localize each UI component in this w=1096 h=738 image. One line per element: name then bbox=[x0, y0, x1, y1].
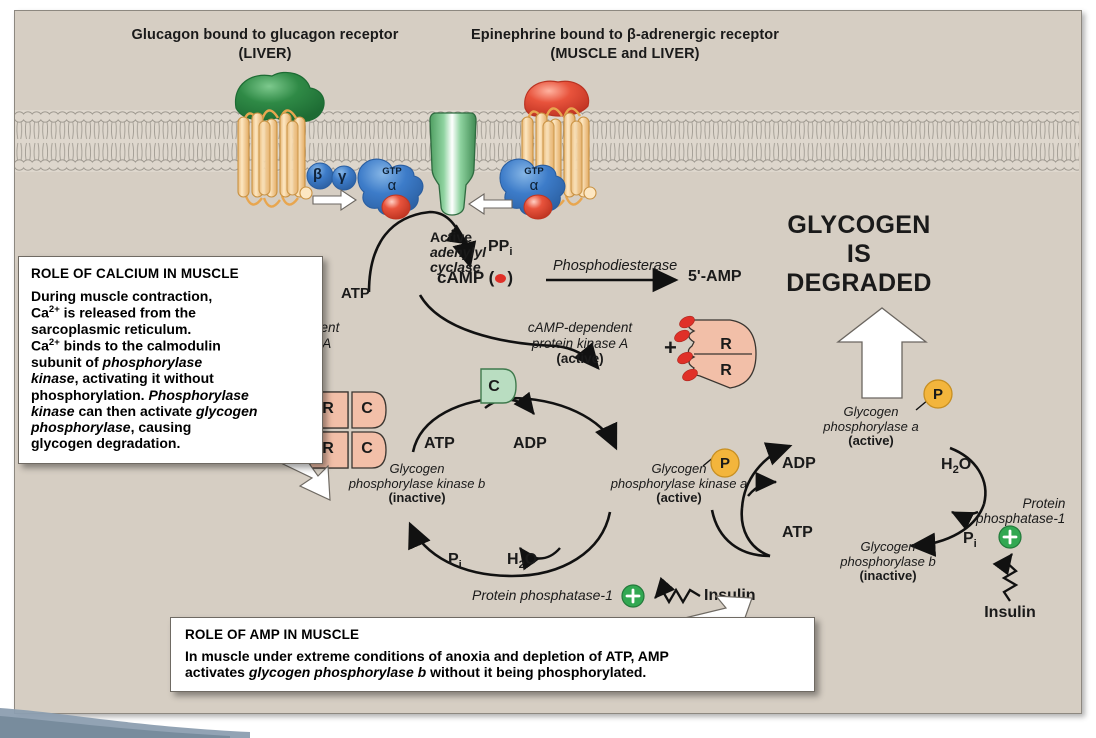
header-epinephrine-line2: (MUSCLE and LIVER) bbox=[550, 46, 699, 62]
g-gtp-label-left: GTP bbox=[382, 166, 402, 177]
glycogen-degraded-line3: DEGRADED bbox=[786, 269, 931, 297]
glycogen-phosphorylase-a-label: Glycogen phosphorylase a (active) bbox=[823, 405, 918, 449]
pka-R-subunit-2: R bbox=[720, 362, 732, 380]
g-gtp-label-right: GTP bbox=[524, 166, 544, 177]
g-beta-label: β bbox=[313, 166, 322, 183]
callout-amp-body: In muscle under extreme conditions of an… bbox=[185, 648, 801, 680]
figure-root: Glucagon bound to glucagon receptor (LIV… bbox=[0, 0, 1096, 738]
pk-b-line2: phosphorylase kinase b bbox=[349, 476, 486, 491]
camp-label: cAMP () bbox=[437, 268, 513, 288]
header-glucagon: Glucagon bound to glucagon receptor (LIV… bbox=[85, 26, 445, 64]
left-phosphatase-label: Protein phosphatase-1 bbox=[472, 587, 613, 603]
cyclase-line2: adenylyl bbox=[430, 244, 486, 260]
right-cycle-pi: Pi bbox=[963, 530, 977, 550]
glycogen-degraded-line2: IS bbox=[847, 240, 871, 268]
pka-subunit-C2: C bbox=[361, 440, 373, 458]
callout-amp: ROLE OF AMP IN MUSCLE In muscle under ex… bbox=[170, 617, 815, 692]
cyclase-line1: Active bbox=[430, 229, 472, 245]
left-insulin-label: Insulin bbox=[704, 587, 756, 605]
callout-calcium: ROLE OF CALCIUM IN MUSCLE During muscle … bbox=[18, 256, 323, 464]
pk-a-line2: phosphorylase kinase a bbox=[611, 476, 748, 491]
phosphorylase-kinase-b-label: Glycogen phosphorylase kinase b (inactiv… bbox=[349, 462, 486, 506]
pka-subunit-R2: R bbox=[322, 440, 334, 458]
g-gamma-label: γ bbox=[338, 168, 346, 185]
gp-a-line1: Glycogen bbox=[844, 404, 899, 419]
left-cycle-adp: ADP bbox=[513, 435, 547, 453]
pka-active-state: (active) bbox=[556, 351, 603, 366]
left-cycle-h2o: H2O bbox=[507, 551, 537, 571]
pk-b-state: (inactive) bbox=[388, 490, 445, 505]
pk-a-state: (active) bbox=[656, 490, 702, 505]
pk-a-line1: Glycogen bbox=[652, 461, 707, 476]
callout-calcium-title: ROLE OF CALCIUM IN MUSCLE bbox=[31, 266, 311, 281]
callout-amp-title: ROLE OF AMP IN MUSCLE bbox=[185, 627, 801, 642]
gp-b-line1: Glycogen bbox=[861, 539, 916, 554]
glycogen-phosphorylase-b-label: Glycogen phosphorylase b (inactive) bbox=[840, 540, 935, 584]
callout-calcium-body: During muscle contraction,Ca2+ is releas… bbox=[31, 288, 311, 452]
glycogen-degraded-label: GLYCOGEN IS DEGRADED bbox=[786, 211, 931, 298]
right-cycle-adp: ADP bbox=[782, 455, 816, 473]
right-insulin-label: Insulin bbox=[984, 604, 1036, 622]
c-subunit-label: C bbox=[488, 378, 500, 396]
pka-active-label: cAMP-dependent protein kinase A (active) bbox=[528, 320, 632, 367]
pka-plus-sign: + bbox=[664, 335, 677, 361]
right-cycle-h2o: H2O bbox=[941, 456, 971, 476]
right-phosphatase-label: Protein phosphatase-1 bbox=[976, 496, 1065, 527]
phosphodiesterase-label: Phosphodiesterase bbox=[553, 258, 677, 274]
right-phosphatase-line1: Protein bbox=[1023, 496, 1066, 511]
gp-a-state: (active) bbox=[848, 433, 894, 448]
header-epinephrine-line1: Epinephrine bound to β-adrenergic recept… bbox=[471, 27, 779, 43]
left-cycle-atp: ATP bbox=[424, 435, 455, 453]
phosphate-badge-pk-a-label: P bbox=[720, 455, 730, 472]
ppi-label: PPi bbox=[488, 238, 512, 258]
glycogen-degraded-line1: GLYCOGEN bbox=[787, 211, 930, 239]
pka-subunit-R1: R bbox=[322, 400, 334, 418]
phosphate-badge-gp-a-label: P bbox=[933, 386, 943, 403]
camp-dot-icon bbox=[495, 274, 506, 283]
pka-R-subunit-1: R bbox=[720, 336, 732, 354]
pka-active-line2: protein kinase A bbox=[532, 336, 628, 351]
gp-b-line2: phosphorylase b bbox=[840, 554, 935, 569]
header-glucagon-line1: Glucagon bound to glucagon receptor bbox=[132, 27, 399, 43]
right-phosphatase-line2: phosphatase-1 bbox=[976, 511, 1065, 526]
plasma-membrane bbox=[15, 110, 1079, 172]
right-cycle-atp: ATP bbox=[782, 524, 813, 542]
g-alpha-label-left: α bbox=[388, 177, 397, 194]
g-alpha-label-right: α bbox=[530, 177, 539, 194]
amp-label: 5'-AMP bbox=[688, 268, 742, 286]
gp-a-line2: phosphorylase a bbox=[823, 419, 918, 434]
pk-b-line1: Glycogen bbox=[390, 461, 445, 476]
header-glucagon-line2: (LIVER) bbox=[238, 46, 291, 62]
pka-subunit-C1: C bbox=[361, 400, 373, 418]
header-epinephrine: Epinephrine bound to β-adrenergic recept… bbox=[415, 26, 835, 64]
pka-active-line1: cAMP-dependent bbox=[528, 320, 632, 335]
left-cycle-pi: Pi bbox=[448, 551, 462, 571]
atp-label-cyclase: ATP bbox=[341, 285, 370, 302]
gp-b-state: (inactive) bbox=[859, 568, 916, 583]
